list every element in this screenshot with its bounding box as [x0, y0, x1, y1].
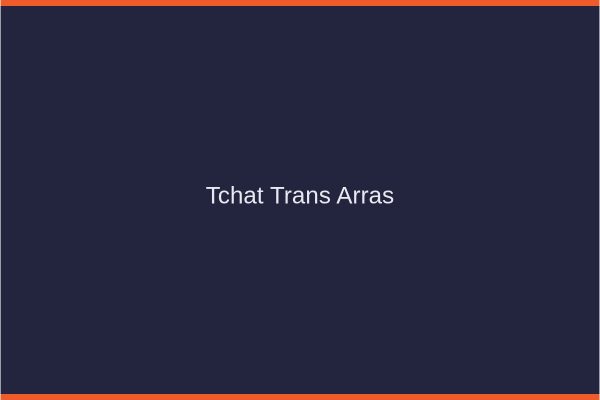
- accent-bar-bottom: [0, 394, 600, 400]
- banner-card: Tchat Trans Arras: [0, 0, 600, 400]
- page-title: Tchat Trans Arras: [206, 183, 394, 212]
- banner-title-container: Tchat Trans Arras: [0, 183, 600, 212]
- banner-body: Tchat Trans Arras: [0, 6, 600, 394]
